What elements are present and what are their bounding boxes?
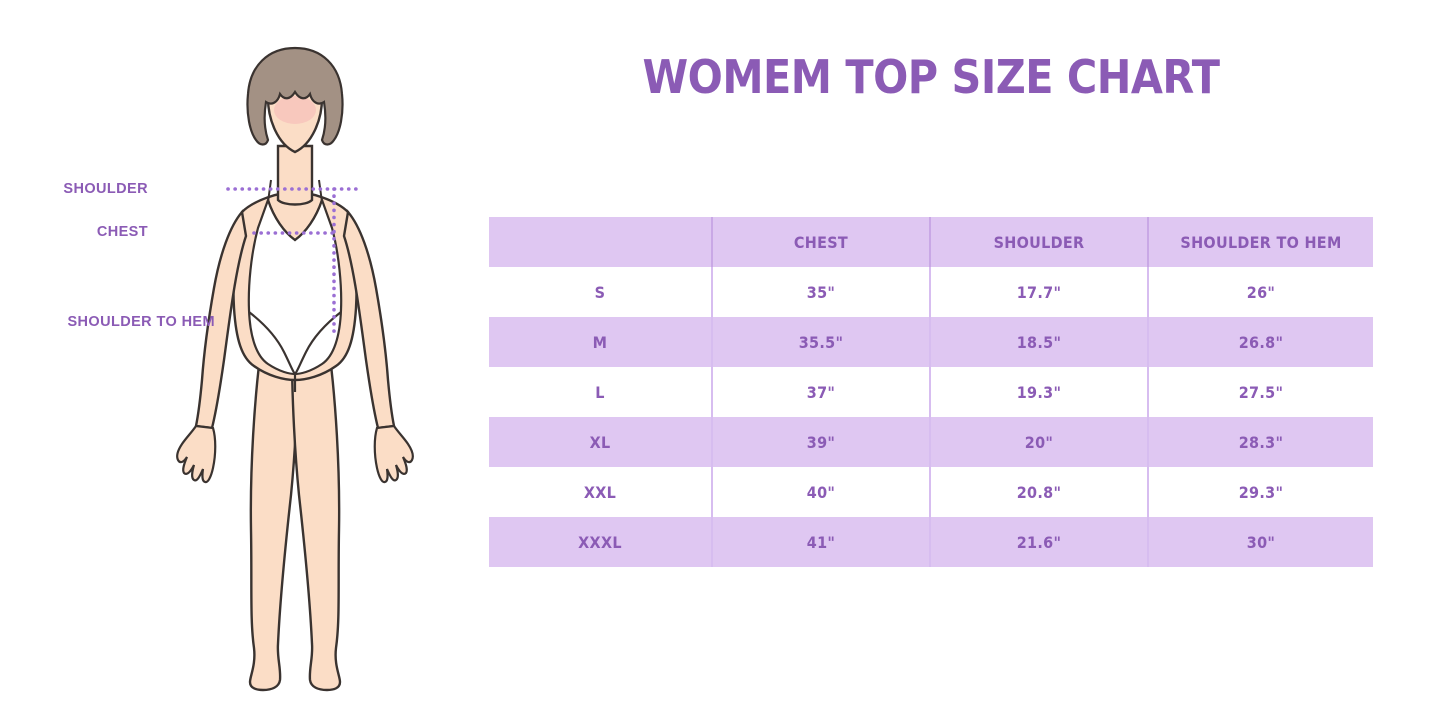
- cell-chest: 37": [712, 367, 930, 417]
- cell-chest: 40": [712, 467, 930, 517]
- label-shoulder-to-hem: SHOULDER TO HEM: [67, 314, 215, 330]
- label-shoulder: SHOULDER: [63, 181, 148, 197]
- cell-shoulder-to-hem: 27.5": [1148, 367, 1373, 417]
- cell-size: XXL: [489, 467, 712, 517]
- cell-shoulder: 20.8": [930, 467, 1148, 517]
- cell-chest: 35.5": [712, 317, 930, 367]
- cell-size: L: [489, 367, 712, 417]
- header-chest: CHEST: [712, 217, 930, 267]
- cell-shoulder: 18.5": [930, 317, 1148, 367]
- cell-chest: 39": [712, 417, 930, 467]
- size-chart-table: CHEST SHOULDER SHOULDER TO HEM S 35" 17.…: [489, 217, 1373, 567]
- table-row: XXXL 41" 21.6" 30": [489, 517, 1373, 567]
- cell-shoulder-to-hem: 26": [1148, 267, 1373, 317]
- cell-size: XXXL: [489, 517, 712, 567]
- cell-shoulder-to-hem: 29.3": [1148, 467, 1373, 517]
- header-size: [489, 217, 712, 267]
- cell-shoulder: 20": [930, 417, 1148, 467]
- header-shoulder-to-hem: SHOULDER TO HEM: [1148, 217, 1373, 267]
- cell-size: M: [489, 317, 712, 367]
- left-hand: [177, 426, 215, 482]
- neck: [278, 146, 312, 205]
- cell-shoulder-to-hem: 26.8": [1148, 317, 1373, 367]
- cell-shoulder: 17.7": [930, 267, 1148, 317]
- right-leg: [292, 340, 340, 690]
- label-chest: CHEST: [97, 224, 148, 240]
- left-leg: [250, 340, 298, 690]
- table-header-row: CHEST SHOULDER SHOULDER TO HEM: [489, 217, 1373, 267]
- figure-panel: SHOULDER CHEST SHOULDER TO HEM: [0, 0, 470, 723]
- table-row: XL 39" 20" 28.3": [489, 417, 1373, 467]
- blush: [274, 96, 316, 124]
- cell-chest: 35": [712, 267, 930, 317]
- table-row: XXL 40" 20.8" 29.3": [489, 467, 1373, 517]
- table-row: L 37" 19.3" 27.5": [489, 367, 1373, 417]
- cell-size: S: [489, 267, 712, 317]
- cell-chest: 41": [712, 517, 930, 567]
- female-body-illustration: [150, 40, 440, 700]
- header-shoulder: SHOULDER: [930, 217, 1148, 267]
- table-row: M 35.5" 18.5" 26.8": [489, 317, 1373, 367]
- cell-shoulder-to-hem: 28.3": [1148, 417, 1373, 467]
- cell-shoulder: 19.3": [930, 367, 1148, 417]
- cell-shoulder: 21.6": [930, 517, 1148, 567]
- cell-size: XL: [489, 417, 712, 467]
- right-hand: [375, 426, 413, 482]
- page-title: WOMEM TOP SIZE CHART: [489, 50, 1373, 104]
- cell-shoulder-to-hem: 30": [1148, 517, 1373, 567]
- table-row: S 35" 17.7" 26": [489, 267, 1373, 317]
